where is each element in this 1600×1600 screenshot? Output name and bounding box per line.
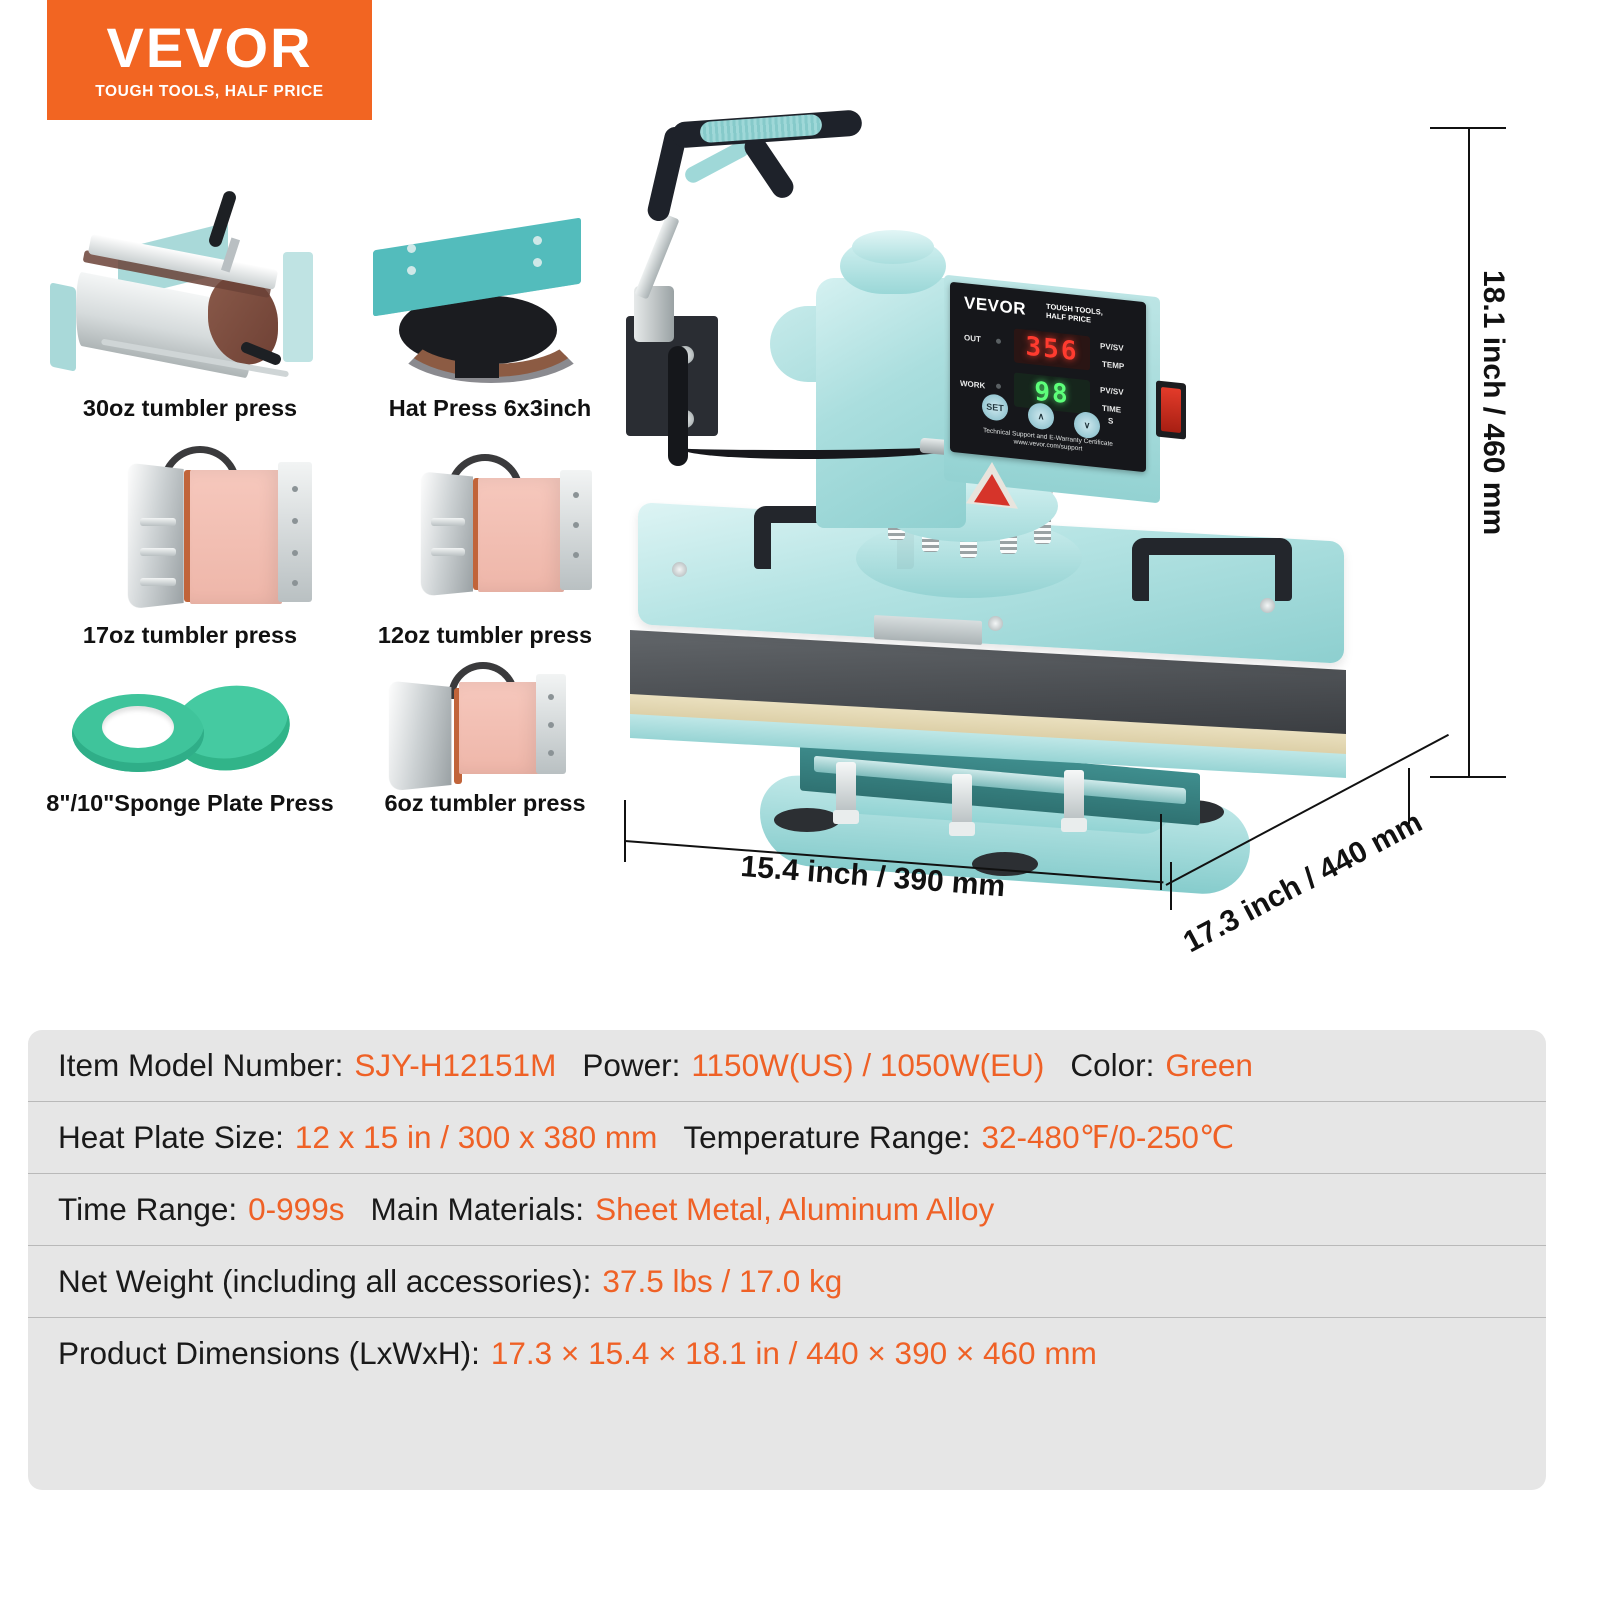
accessory-label-2: 17oz tumbler press [40,622,340,649]
spec-row-weight: Net Weight (including all accessories): … [28,1245,1546,1317]
panel-label-time-unit: S [1108,416,1113,426]
accessory-item-4: 8"/10"Sponge Plate Press [30,672,350,872]
accessory-label-1: Hat Press 6x3inch [355,395,625,422]
spec-row-dimensions: Product Dimensions (LxWxH): 17.3 × 15.4 … [28,1317,1546,1389]
spec-value-weight: 37.5 lbs / 17.0 kg [602,1263,842,1300]
spec-key-time-range: Time Range: [58,1191,237,1228]
panel-label-out: OUT [964,333,981,344]
specification-table: Item Model Number: SJY-H12151M Power: 11… [28,1030,1546,1490]
panel-label-pv-sv-time: PV/SV [1100,385,1124,396]
panel-label-work: WORK [960,379,985,391]
spec-value-plate-size: 12 x 15 in / 300 x 380 mm [295,1119,657,1156]
spec-value-materials: Sheet Metal, Aluminum Alloy [595,1191,994,1228]
width-tick-right [1160,814,1162,890]
decrease-button[interactable]: ∨ [1074,411,1100,440]
width-tick-left [624,800,626,862]
panel-support-text: Technical Support and E-Warranty Certifi… [972,426,1124,459]
spec-row-model: Item Model Number: SJY-H12151M Power: 11… [28,1030,1546,1101]
brand-tagline: TOUGH TOOLS, HALF PRICE [95,83,324,101]
tumbler-press-17oz-icon [40,440,340,620]
tumbler-press-12oz-icon [335,440,635,620]
spec-key-materials: Main Materials: [370,1191,584,1228]
height-dimension-line [1468,128,1470,778]
tumbler-press-30oz-icon [40,180,340,375]
spec-key-dimensions: Product Dimensions (LxWxH): [58,1335,480,1372]
machine-base [740,756,1260,852]
hat-press-icon [355,200,625,380]
accessory-label-5: 6oz tumbler press [340,790,630,817]
brand-name: VEVOR [106,20,312,76]
panel-led-work [996,384,1001,390]
vevor-logo: VEVOR TOUGH TOOLS, HALF PRICE [47,0,372,120]
temperature-value: 356 [1026,332,1079,368]
accessory-item-3: 12oz tumbler press [335,440,635,660]
warning-label-icon [974,472,1010,506]
heat-press-machine-illustration: VEVOR TOUGH TOOLS,HALF PRICE OUT WORK 35… [620,110,1420,870]
spec-value-time-range: 0-999s [248,1191,344,1228]
panel-label-temp: TEMP [1102,360,1124,371]
depth-tick-bottom [1170,862,1172,910]
height-tick-bottom [1430,776,1506,778]
set-button[interactable]: SET [982,393,1008,422]
spec-key-color: Color: [1070,1047,1154,1084]
accessory-item-1: Hat Press 6x3inch [355,200,625,440]
spec-value-power: 1150W(US) / 1050W(EU) [691,1047,1044,1084]
height-tick-top [1430,127,1506,129]
handle-shaft [668,346,688,466]
height-dimension-label: 18.1 inch / 460 mm [1476,270,1510,535]
accessory-item-0: 30oz tumbler press [40,180,340,440]
panel-label-time: TIME [1102,404,1121,415]
spec-value-color: Green [1165,1047,1253,1084]
panel-brand: VEVOR [964,293,1026,320]
platen-spec-label [874,615,982,645]
spec-row-plate-temp: Heat Plate Size: 12 x 15 in / 300 x 380 … [28,1101,1546,1173]
accessory-label-4: 8"/10"Sponge Plate Press [30,790,350,817]
panel-label-pv-sv-temp: PV/SV [1100,341,1124,352]
accessory-label-0: 30oz tumbler press [40,395,340,422]
spec-key-model: Item Model Number: [58,1047,343,1084]
power-switch[interactable] [1156,380,1186,439]
accessory-label-3: 12oz tumbler press [335,622,635,649]
spec-value-dimensions: 17.3 × 15.4 × 18.1 in / 440 × 390 × 460 … [491,1335,1097,1372]
spec-row-time-materials: Time Range: 0-999s Main Materials: Sheet… [28,1173,1546,1245]
time-display: 98 [1014,372,1090,414]
accessory-item-2: 17oz tumbler press [40,440,340,660]
tumbler-press-6oz-icon [340,660,630,810]
panel-led-out [996,339,1001,345]
upper-platen-handle-right[interactable] [1132,538,1292,601]
spec-key-weight: Net Weight (including all accessories): [58,1263,591,1300]
temperature-display: 356 [1014,328,1090,370]
accessory-item-5: 6oz tumbler press [340,660,630,870]
panel-brand-tagline: TOUGH TOOLS,HALF PRICE [1046,303,1103,326]
spec-value-temp-range: 32-480℉/0-250℃ [982,1119,1235,1156]
spec-key-power: Power: [582,1047,680,1084]
control-panel[interactable]: VEVOR TOUGH TOOLS,HALF PRICE OUT WORK 35… [950,282,1146,473]
spec-key-plate-size: Heat Plate Size: [58,1119,284,1156]
sponge-plate-press-icon [64,672,384,787]
spec-value-model: SJY-H12151M [354,1047,556,1084]
spec-key-temp-range: Temperature Range: [683,1119,970,1156]
product-infographic: VEVOR TOUGH TOOLS, HALF PRICE 30oz tumbl… [0,0,1600,1600]
